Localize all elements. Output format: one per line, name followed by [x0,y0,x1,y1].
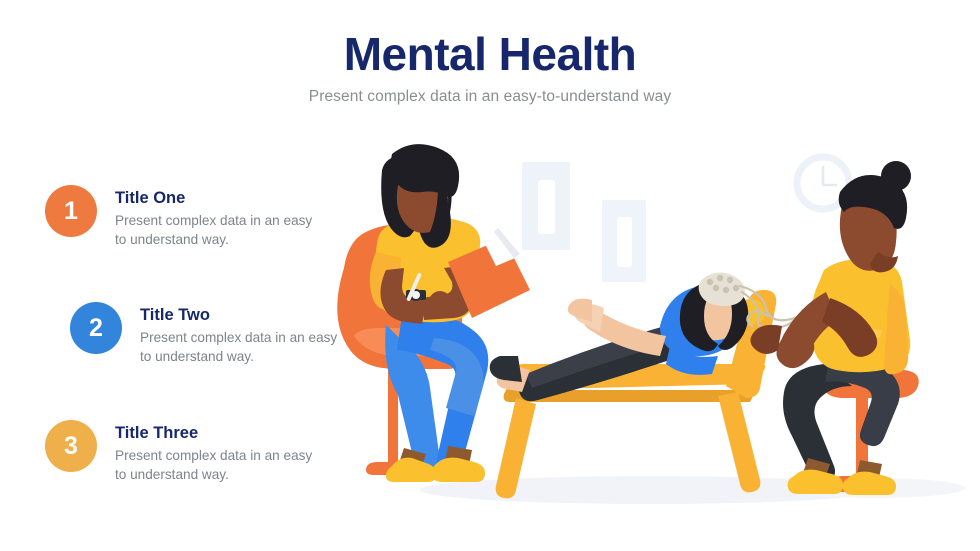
list-item-two-text: Title Two Present complex data in an eas… [140,302,340,367]
list-item-one-description: Present complex data in an easy to under… [115,211,315,250]
badge-number-one: 1 [45,185,97,237]
list-item-two-description: Present complex data in an easy to under… [140,328,340,367]
wall-frame-right-icon [602,200,646,282]
page-title: Mental Health [0,30,980,78]
header: Mental Health Present complex data in an… [0,30,980,106]
badge-number-three: 3 [45,420,97,472]
wall-frame-left-icon [522,162,570,250]
technician-figure [747,161,918,495]
list-item-one[interactable]: 1 Title One Present complex data in an e… [45,185,315,250]
badge-number-two: 2 [70,302,122,354]
list-item-three-text: Title Three Present complex data in an e… [115,420,315,485]
therapist-legs [385,314,488,474]
list-item-three-description: Present complex data in an easy to under… [115,446,315,485]
list-item-three-title: Title Three [115,424,315,442]
list-item-two-title: Title Two [140,306,340,324]
therapy-session-illustration [330,140,980,520]
therapist-figure [337,144,530,482]
list-item-one-title: Title One [115,189,315,207]
list-item-three[interactable]: 3 Title Three Present complex data in an… [45,420,315,485]
list-item-one-text: Title One Present complex data in an eas… [115,185,315,250]
technician-legs [783,357,900,482]
bullet-list: 1 Title One Present complex data in an e… [0,175,340,515]
list-item-two[interactable]: 2 Title Two Present complex data in an e… [70,302,340,367]
slide-canvas: Mental Health Present complex data in an… [0,0,980,551]
page-subtitle: Present complex data in an easy-to-under… [0,88,980,106]
